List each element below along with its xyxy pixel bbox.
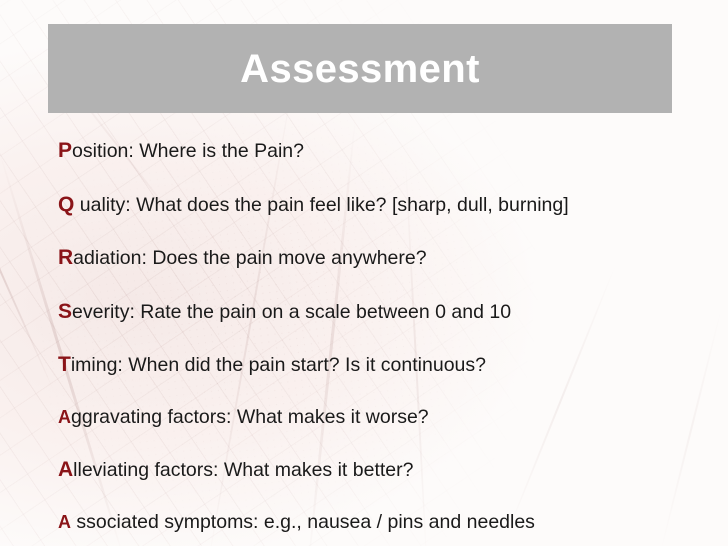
initial-letter: R <box>58 246 73 269</box>
list-item-text: ggravating factors: What makes it worse? <box>71 406 429 428</box>
list-item-text: ssociated symptoms: e.g., nausea / pins … <box>71 511 535 533</box>
initial-letter: P <box>58 139 72 162</box>
list-item-associated-symptoms: A ssociated symptoms: e.g., nausea / pin… <box>58 513 714 533</box>
list-item-text: adiation: Does the pain move anywhere? <box>73 247 426 269</box>
initial-letter: T <box>58 353 71 376</box>
initial-letter: A <box>58 458 73 481</box>
list-item-text: osition: Where is the Pain? <box>72 140 304 162</box>
list-item-aggravating-factors: Aggravating factors: What makes it worse… <box>58 408 714 428</box>
list-item-position: Position: Where is the Pain? <box>58 140 714 162</box>
list-item-text: uality: What does the pain feel like? [s… <box>74 194 568 216</box>
list-item-severity: Severity: Rate the pain on a scale betwe… <box>58 301 714 323</box>
initial-letter: S <box>58 300 72 323</box>
initial-letter: A <box>58 407 71 427</box>
assessment-question-list: Position: Where is the Pain? Q uality: W… <box>58 140 714 532</box>
slide-title-bar: Assessment <box>48 24 672 113</box>
slide: Assessment Position: Where is the Pain? … <box>0 0 728 546</box>
list-item-quality: Q uality: What does the pain feel like? … <box>58 194 714 216</box>
slide-title: Assessment <box>240 49 480 89</box>
initial-letter: Q <box>58 193 74 216</box>
list-item-text: everity: Rate the pain on a scale betwee… <box>72 301 511 323</box>
list-item-radiation: Radiation: Does the pain move anywhere? <box>58 247 714 269</box>
list-item-timing: Timing: When did the pain start? Is it c… <box>58 354 714 376</box>
initial-letter: A <box>58 512 71 532</box>
list-item-text: iming: When did the pain start? Is it co… <box>71 354 486 376</box>
list-item-text: lleviating factors: What makes it better… <box>73 459 413 481</box>
list-item-alleviating-factors: Alleviating factors: What makes it bette… <box>58 459 714 481</box>
